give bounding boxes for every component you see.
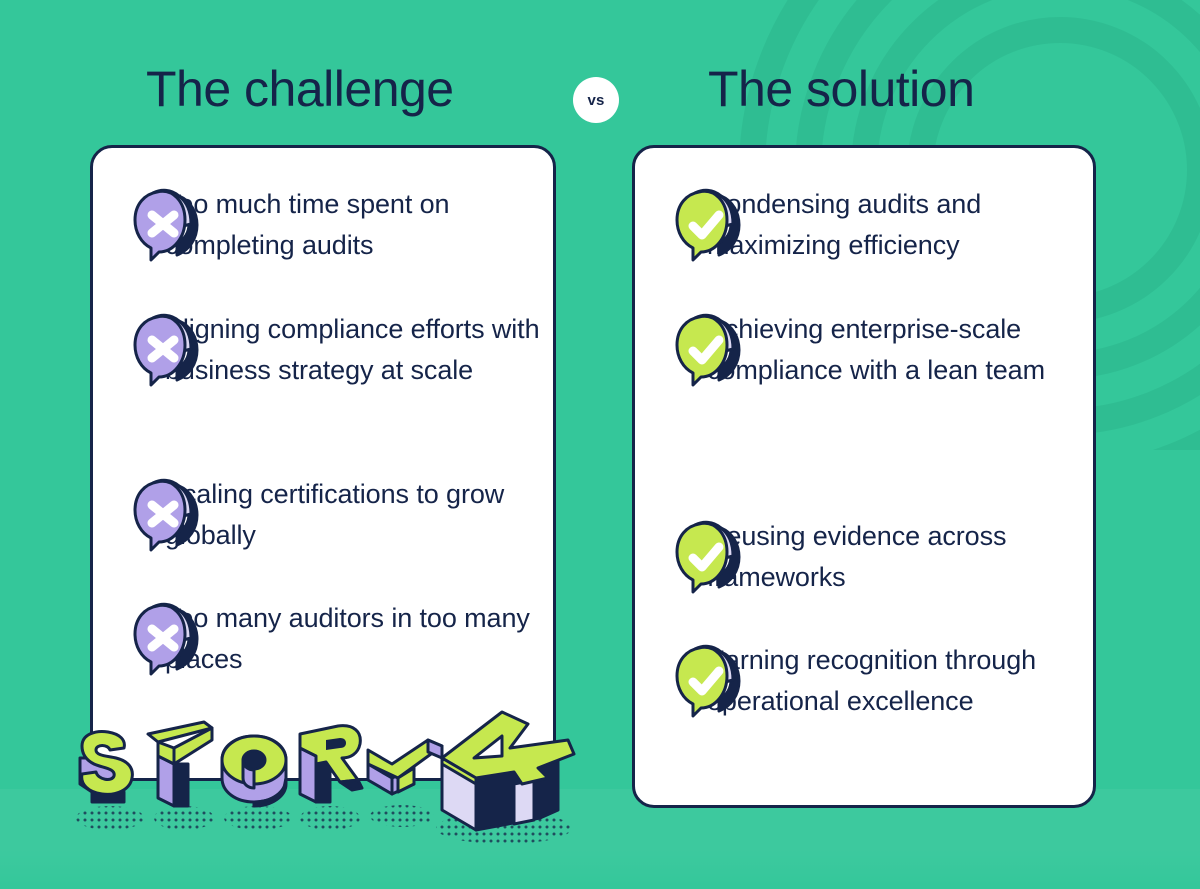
list-item: Too many auditors in too many places — [165, 598, 545, 680]
check-bubble-icon — [669, 640, 747, 724]
list-item-label: Reusing evidence across frameworks — [707, 516, 1097, 598]
cross-bubble-icon — [127, 309, 205, 393]
infographic-canvas: The challenge vs The solution Too much t… — [0, 0, 1200, 889]
cross-bubble-icon — [127, 184, 205, 268]
solution-card: Condensing audits and maximizing efficie… — [632, 145, 1096, 808]
list-item: Aligning compliance efforts with busines… — [165, 309, 545, 391]
check-bubble-icon — [669, 184, 747, 268]
list-item-label: Scaling certifications to grow globally — [165, 474, 545, 556]
check-bubble-icon — [669, 516, 747, 600]
page-title-challenge: The challenge — [146, 62, 454, 117]
cross-bubble-icon — [127, 598, 205, 682]
check-bubble-icon — [669, 516, 747, 600]
list-item-label: Achieving enterprise-scale compliance wi… — [707, 309, 1097, 391]
page-title-solution: The solution — [708, 62, 974, 117]
check-bubble-icon — [669, 309, 747, 393]
list-item-label: Aligning compliance efforts with busines… — [165, 309, 545, 391]
list-item: Condensing audits and maximizing efficie… — [707, 184, 1097, 266]
check-bubble-icon — [669, 184, 747, 268]
list-item: Reusing evidence across frameworks — [707, 516, 1097, 598]
list-item: Achieving enterprise-scale compliance wi… — [707, 309, 1097, 391]
list-item-label: Too many auditors in too many places — [165, 598, 545, 680]
cross-bubble-icon — [127, 309, 205, 393]
list-item: Earning recognition through operational … — [707, 640, 1097, 722]
cross-bubble-icon — [127, 184, 205, 268]
list-item: Too much time spent on completing audits — [165, 184, 545, 266]
challenge-card: Too much time spent on completing audits… — [90, 145, 556, 781]
check-bubble-icon — [669, 640, 747, 724]
check-bubble-icon — [669, 309, 747, 393]
list-item: Scaling certifications to grow globally — [165, 474, 545, 556]
list-item-label: Too much time spent on completing audits — [165, 184, 545, 266]
cross-bubble-icon — [127, 474, 205, 558]
list-item-label: Condensing audits and maximizing efficie… — [707, 184, 1097, 266]
cross-bubble-icon — [127, 474, 205, 558]
vs-badge: vs — [573, 77, 619, 123]
cross-bubble-icon — [127, 598, 205, 682]
list-item-label: Earning recognition through operational … — [707, 640, 1097, 722]
